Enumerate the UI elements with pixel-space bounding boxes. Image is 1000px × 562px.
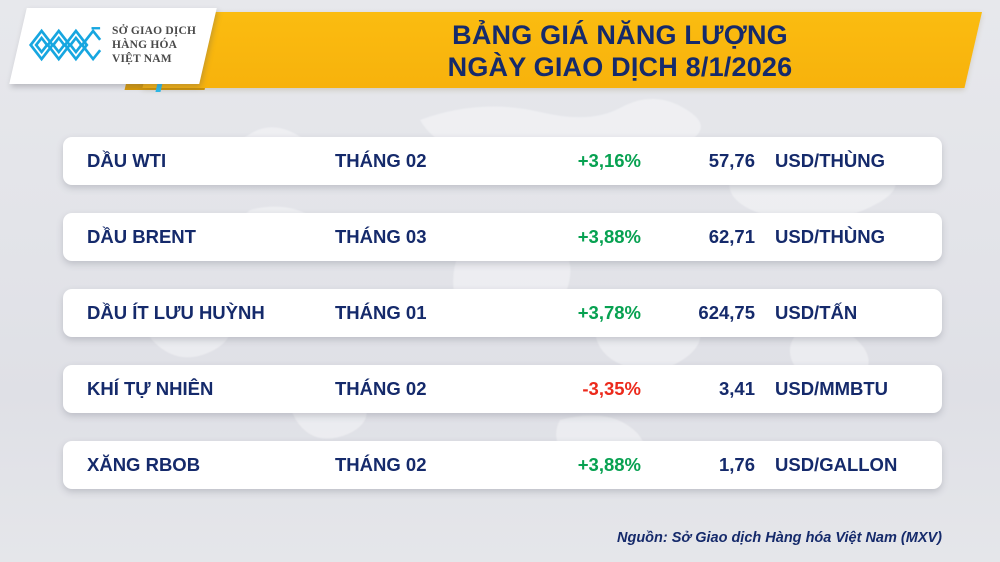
price-value: 57,76 xyxy=(655,150,755,172)
title-line-1: BẢNG GIÁ NĂNG LƯỢNG xyxy=(452,20,788,50)
page-title: BẢNG GIÁ NĂNG LƯỢNG NGÀY GIAO DỊCH 8/1/2… xyxy=(300,16,940,86)
change-percent: +3,78% xyxy=(533,302,641,324)
header: BẢNG GIÁ NĂNG LƯỢNG NGÀY GIAO DỊCH 8/1/2… xyxy=(0,0,1000,96)
title-line-2: NGÀY GIAO DỊCH 8/1/2026 xyxy=(448,52,793,82)
change-percent: +3,88% xyxy=(533,226,641,248)
price-unit: USD/MMBTU xyxy=(775,378,888,400)
change-percent: +3,16% xyxy=(533,150,641,172)
logo-text: SỞ GIAO DỊCH HÀNG HÓA VIỆT NAM xyxy=(112,24,196,66)
source-note: Nguồn: Sở Giao dịch Hàng hóa Việt Nam (M… xyxy=(617,530,942,546)
logo-text-line-1: SỞ GIAO DỊCH xyxy=(112,24,196,38)
logo-text-line-3: VIỆT NAM xyxy=(112,52,196,66)
table-row[interactable]: XĂNG RBOBTHÁNG 02+3,88%1,76USD/GALLON xyxy=(63,441,942,489)
table-row[interactable]: DẦU ÍT LƯU HUỲNHTHÁNG 01+3,78%624,75USD/… xyxy=(63,289,942,337)
contract-month: THÁNG 02 xyxy=(335,454,427,476)
price-unit: USD/GALLON xyxy=(775,454,897,476)
price-value: 62,71 xyxy=(655,226,755,248)
contract-month: THÁNG 02 xyxy=(335,378,427,400)
price-unit: USD/THÙNG xyxy=(775,150,885,172)
commodity-name: XĂNG RBOB xyxy=(87,454,200,476)
contract-month: THÁNG 02 xyxy=(335,150,427,172)
price-value: 624,75 xyxy=(655,302,755,324)
commodity-name: DẦU WTI xyxy=(87,150,166,172)
table-row[interactable]: DẦU BRENTTHÁNG 03+3,88%62,71USD/THÙNG xyxy=(63,213,942,261)
mxv-logo-icon xyxy=(26,22,104,68)
price-table: DẦU WTITHÁNG 02+3,16%57,76USD/THÙNGDẦU B… xyxy=(63,137,942,489)
price-unit: USD/TẤN xyxy=(775,302,857,324)
change-percent: -3,35% xyxy=(533,378,641,400)
change-percent: +3,88% xyxy=(533,454,641,476)
commodity-name: KHÍ TỰ NHIÊN xyxy=(87,378,213,400)
price-unit: USD/THÙNG xyxy=(775,226,885,248)
commodity-name: DẦU ÍT LƯU HUỲNH xyxy=(87,302,265,324)
table-row[interactable]: KHÍ TỰ NHIÊNTHÁNG 02-3,35%3,41USD/MMBTU xyxy=(63,365,942,413)
contract-month: THÁNG 03 xyxy=(335,226,427,248)
logo-text-line-2: HÀNG HÓA xyxy=(112,38,196,52)
price-value: 3,41 xyxy=(655,378,755,400)
energy-price-board: BẢNG GIÁ NĂNG LƯỢNG NGÀY GIAO DỊCH 8/1/2… xyxy=(0,0,1000,562)
contract-month: THÁNG 01 xyxy=(335,302,427,324)
table-row[interactable]: DẦU WTITHÁNG 02+3,16%57,76USD/THÙNG xyxy=(63,137,942,185)
price-value: 1,76 xyxy=(655,454,755,476)
logo: SỞ GIAO DỊCH HÀNG HÓA VIỆT NAM xyxy=(26,16,206,74)
commodity-name: DẦU BRENT xyxy=(87,226,196,248)
